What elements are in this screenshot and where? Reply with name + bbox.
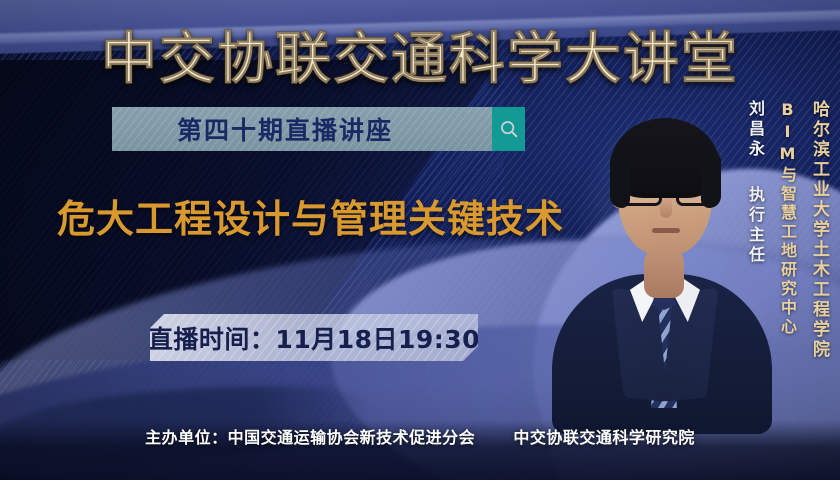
footer-co-organizer: 中交协联交通科学研究院 — [513, 428, 695, 447]
speaker-affiliation: 哈尔滨工业大学土木工程学院 — [809, 100, 828, 360]
portrait-mouth — [652, 228, 680, 233]
speaker-name: 刘昌永 — [746, 100, 764, 160]
live-time-text: 直播时间：11月18日19:30 — [150, 320, 478, 356]
episode-bar-body: 第四十期直播讲座 — [112, 107, 492, 151]
speaker-portrait — [556, 78, 766, 408]
portrait-hair-left — [610, 150, 630, 208]
lecture-headline: 危大工程设计与管理关键技术 — [57, 188, 564, 243]
episode-bar: 第四十期直播讲座 — [112, 107, 525, 151]
footer: 主办单位：中国交通运输协会新技术促进分会 中交协联交通科学研究院 — [0, 424, 840, 448]
page-title: 中交协联交通科学大讲堂 — [0, 14, 840, 95]
footer-organizer: 主办单位：中国交通运输协会新技术促进分会 — [145, 428, 475, 447]
speaker-role: 执行主任 — [746, 186, 764, 266]
portrait-neck — [644, 250, 684, 298]
speaker-research-center: BIM与智慧工地研究中心 — [778, 100, 796, 337]
episode-label: 第四十期直播讲座 — [177, 111, 393, 147]
webinar-poster: 中交协联交通科学大讲堂 第四十期直播讲座 危大工程设计与管理关键技术 直播时间：… — [0, 0, 840, 480]
search-button[interactable] — [492, 107, 525, 151]
portrait-hair-right — [701, 150, 721, 208]
live-time-plate: 直播时间：11月18日19:30 — [150, 314, 478, 361]
search-icon — [498, 118, 520, 140]
